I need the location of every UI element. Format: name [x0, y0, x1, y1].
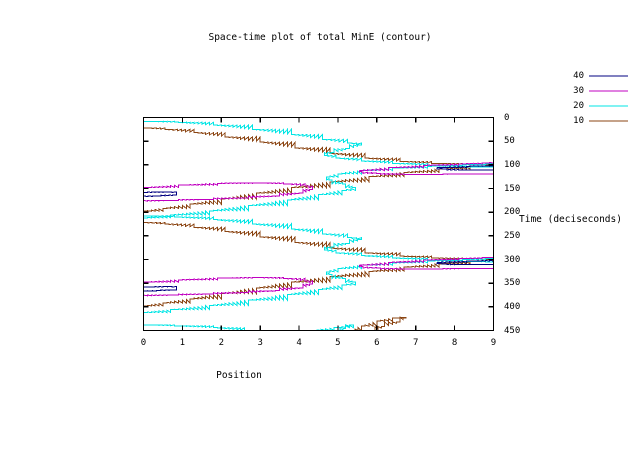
contour-path	[144, 165, 494, 211]
contour-path	[144, 325, 245, 331]
contour-plot-figure: Space-time plot of total MinE (contour) …	[0, 0, 640, 450]
y-tick-label: 400	[504, 302, 520, 312]
legend-label: 20	[573, 101, 584, 111]
legend-label: 40	[573, 71, 584, 81]
x-tick-label: 8	[452, 338, 457, 348]
y-tick-label: 450	[504, 326, 520, 336]
x-tick-label: 0	[141, 338, 146, 348]
x-tick-label: 6	[374, 338, 379, 348]
contour-path	[144, 121, 494, 167]
plot-canvas	[0, 0, 640, 450]
contour-lines-group	[144, 121, 494, 330]
y-tick-label: 300	[504, 255, 520, 265]
x-tick-label: 4	[296, 338, 301, 348]
contour-path	[144, 128, 494, 165]
y-tick-label: 100	[504, 160, 520, 170]
y-tick-label: 250	[504, 231, 520, 241]
legend-label: 10	[573, 116, 584, 126]
x-tick-label: 7	[413, 338, 418, 348]
x-tick-label: 9	[491, 338, 496, 348]
contour-path	[144, 258, 494, 312]
legend-swatches-group	[589, 76, 628, 121]
contour-path	[144, 192, 177, 197]
x-axis-label: Position	[0, 371, 478, 381]
y-tick-label: 150	[504, 184, 520, 194]
contour-path	[352, 317, 406, 330]
x-tick-label: 5	[335, 338, 340, 348]
y-tick-label: 50	[504, 136, 515, 146]
contour-path	[144, 223, 494, 260]
x-tick-label: 2	[219, 338, 224, 348]
y-tick-label: 200	[504, 207, 520, 217]
contour-level-20	[144, 121, 494, 330]
y-axis-label: Time (deciseconds)	[519, 215, 622, 225]
legend-label: 30	[573, 86, 584, 96]
contour-path	[313, 325, 354, 331]
y-tick-label: 0	[504, 113, 509, 123]
contour-path	[144, 286, 177, 291]
x-tick-label: 3	[257, 338, 262, 348]
x-tick-label: 1	[180, 338, 185, 348]
y-tick-label: 350	[504, 278, 520, 288]
contour-path	[144, 163, 494, 217]
contour-path	[144, 260, 494, 306]
contour-path	[144, 216, 494, 262]
